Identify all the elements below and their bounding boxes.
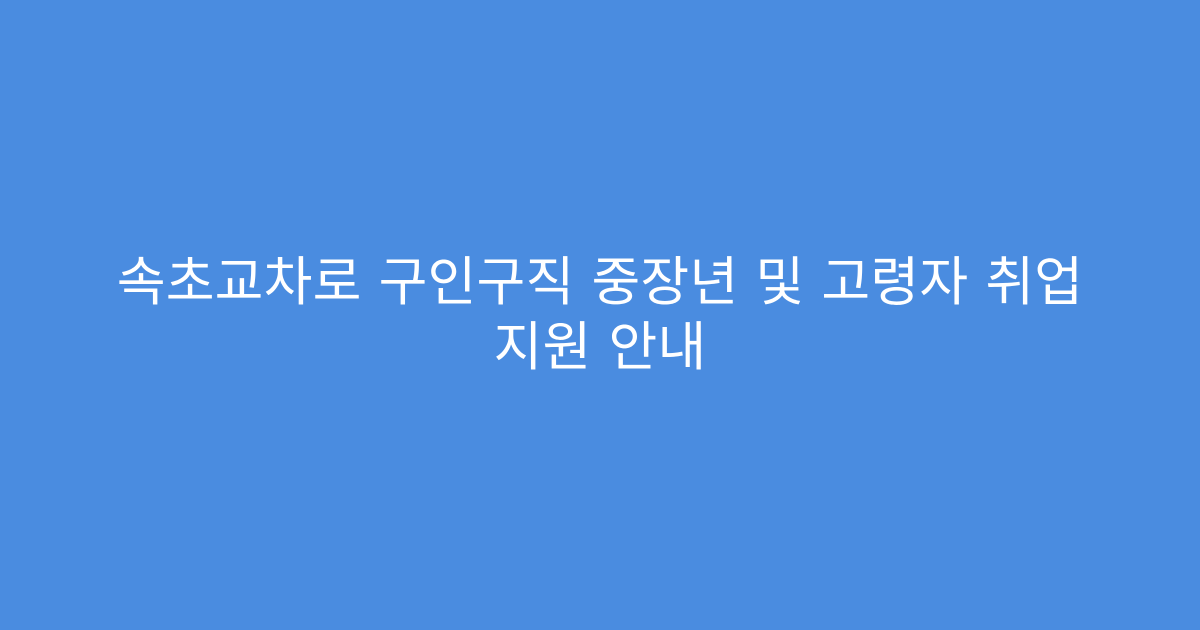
page-title: 속초교차로 구인구직 중장년 및 고령자 취업 지원 안내 bbox=[78, 250, 1122, 380]
og-banner: 속초교차로 구인구직 중장년 및 고령자 취업 지원 안내 bbox=[0, 0, 1200, 630]
headline-block: 속초교차로 구인구직 중장년 및 고령자 취업 지원 안내 bbox=[0, 250, 1200, 380]
